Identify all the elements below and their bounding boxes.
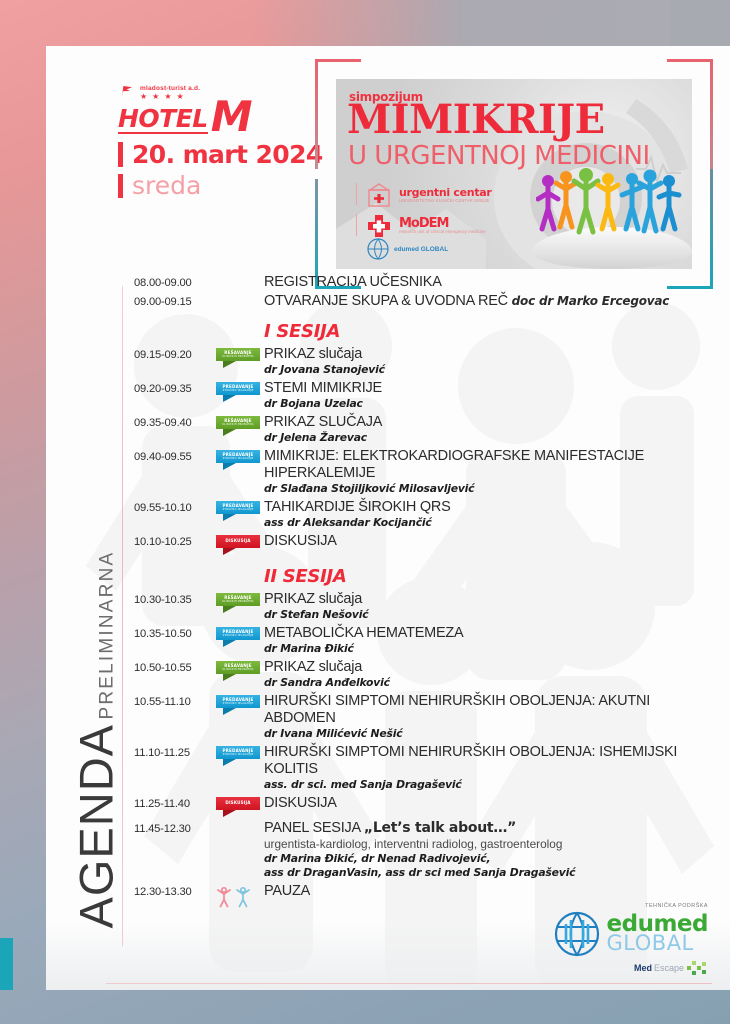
person-pink-icon <box>216 886 232 908</box>
ribbon-tail <box>223 429 236 436</box>
schedule-row: 08.00-09.00REGISTRACIJA UČESNIKA <box>134 274 716 291</box>
ribbon-green: REŠAVANJEKLINIČKIH PROBLEMA <box>216 661 260 681</box>
item-title: STEMI MIMIKRIJE <box>264 380 716 397</box>
item-title: HIRURŠKI SIMPTOMI NEHIRURŠKIH OBOLJENJA:… <box>264 693 716 727</box>
date-accent-bar <box>118 142 123 167</box>
hotel-logo: mladost-turist a.d. ★★★★ HOTEL M <box>118 84 298 134</box>
schedule-row: 11.25-11.40DISKUSIJADISKUSIJA <box>134 795 716 817</box>
medescape-escape: Escape <box>654 963 684 973</box>
item-speaker: dr Stefan Nešović <box>264 608 716 622</box>
ribbon-tail <box>223 708 236 715</box>
session-badge-spacer <box>216 321 264 323</box>
promo-edumed-text: edumed GLOBAL <box>394 246 448 253</box>
item-speaker: dr Ivana Milićević Nešić <box>264 727 716 741</box>
item-time: 10.55-11.10 <box>134 693 216 710</box>
schedule-row: 09.20-09.35PREDAVANJESTRUČNO IZLAGANJEST… <box>134 380 716 411</box>
schedule-row: 09.00-09.15OTVARANJE SKUPA & UVODNA REČ … <box>134 293 716 310</box>
item-time: 09.00-09.15 <box>134 293 216 310</box>
ribbon-sublabel: STRUČNO IZLAGANJE <box>223 703 254 706</box>
item-time: 10.50-10.55 <box>134 659 216 676</box>
hotel-m-letter: M <box>211 100 251 134</box>
item-title: PAUZA <box>264 883 716 900</box>
ribbon-green: REŠAVANJEKLINIČKIH PROBLEMA <box>216 348 260 368</box>
hospital-building-icon <box>366 182 392 208</box>
promo-subtitle: U URGENTNOJ MEDICINI <box>348 143 650 169</box>
ribbon-blue: PREDAVANJESTRUČNO IZLAGANJE <box>216 746 260 766</box>
ribbon-sublabel: KLINIČKIH PROBLEMA <box>222 601 254 604</box>
hotel-brand-text: mladost-turist a.d. <box>140 85 320 92</box>
medical-cross-icon <box>366 213 392 239</box>
promo-org-urgentni-centar: urgentni centar UNIVERZITETSKI KLINIČKI … <box>366 182 492 208</box>
badge-green: REŠAVANJEKLINIČKIH PROBLEMA <box>216 414 264 436</box>
schedule-row: 11.45-12.30PANEL SESIJA „Let’s talk abou… <box>134 820 716 880</box>
badge-empty <box>216 293 264 295</box>
item-description: urgentista-kardiolog, interventni radiol… <box>264 837 716 852</box>
item-title-text: PANEL SESIJA <box>264 820 360 836</box>
footer-rule <box>106 983 712 984</box>
badge-blue: PREDAVANJESTRUČNO IZLAGANJE <box>216 380 264 402</box>
item-time: 09.55-10.10 <box>134 499 216 516</box>
item-speaker: dr Marina Đikić, dr Nenad Radivojević, <box>264 852 716 866</box>
footer-sponsor-logo: TEHNIČKA PODRŠKA edumed GLOBAL Med Escap… <box>538 903 708 976</box>
item-time: 10.10-10.25 <box>134 533 216 550</box>
badge-pauza <box>216 883 264 908</box>
preliminary-word: PRELIMINARNA <box>97 551 118 720</box>
badge-empty <box>216 274 264 276</box>
item-content: OTVARANJE SKUPA & UVODNA REČ doc dr Mark… <box>264 293 716 310</box>
event-weekday: sreda <box>132 172 201 200</box>
agenda-word: AGENDA <box>70 724 123 929</box>
ribbon-label: DISKUSIJA <box>225 801 250 806</box>
ribbon-tail <box>223 606 236 613</box>
event-date: 20. mart 2024 <box>132 142 323 167</box>
schedule-row: 10.35-10.50PREDAVANJESTRUČNO IZLAGANJEME… <box>134 625 716 656</box>
schedule-row: 10.30-10.35REŠAVANJEKLINIČKIH PROBLEMAPR… <box>134 591 716 622</box>
item-content: DISKUSIJA <box>264 533 716 550</box>
item-time: 09.40-09.55 <box>134 448 216 465</box>
item-title: HIRURŠKI SIMPTOMI NEHIRURŠKIH OBOLJENJA:… <box>264 744 716 778</box>
person-blue-icon <box>235 886 251 908</box>
ribbon-tail <box>223 395 236 402</box>
teal-edge-tab <box>0 938 13 990</box>
item-content: HIRURŠKI SIMPTOMI NEHIRURŠKIH OBOLJENJA:… <box>264 744 716 792</box>
session-title: I SESIJA <box>264 321 716 342</box>
badge-blue: PREDAVANJESTRUČNO IZLAGANJE <box>216 744 264 766</box>
ribbon-red: DISKUSIJA <box>216 797 260 817</box>
session-heading-row: I SESIJA <box>134 321 716 342</box>
medescape-med: Med <box>634 963 652 973</box>
poster-root: mladost-turist a.d. ★★★★ HOTEL M 20. mar… <box>0 0 730 1024</box>
date-block: 20. mart 2024 sreda <box>118 142 323 200</box>
frame-edge-left-bottom <box>315 179 318 289</box>
item-content: METABOLIČKA HEMATEMEZAdr Marina Đikić <box>264 625 716 656</box>
item-speaker: dr Marina Đikić <box>264 642 716 656</box>
item-content: PRIKAZ SLUČAJAdr Jelena Žarevac <box>264 414 716 445</box>
frame-edge-right-top <box>710 59 713 179</box>
item-title: PRIKAZ slučaja <box>264 346 716 363</box>
badge-blue: PREDAVANJESTRUČNO IZLAGANJE <box>216 693 264 715</box>
item-time: 09.20-09.35 <box>134 380 216 397</box>
session-time-spacer <box>134 321 216 322</box>
ribbon-sublabel: KLINIČKIH PROBLEMA <box>222 669 254 672</box>
schedule-row: 09.15-09.20REŠAVANJEKLINIČKIH PROBLEMAPR… <box>134 346 716 377</box>
item-content: DISKUSIJA <box>264 795 716 812</box>
item-content: MIMIKRIJE: ELEKTROKARDIOGRAFSKE MANIFEST… <box>264 448 716 496</box>
ribbon-tail <box>223 514 236 521</box>
promo-org2-desc: research unit of clinical emergency medi… <box>399 229 486 234</box>
item-title: DISKUSIJA <box>264 795 716 812</box>
item-time: 08.00-09.00 <box>134 274 216 291</box>
item-content: REGISTRACIJA UČESNIKA <box>264 274 716 291</box>
schedule-row: 11.10-11.25PREDAVANJESTRUČNO IZLAGANJEHI… <box>134 744 716 792</box>
item-title: MIMIKRIJE: ELEKTROKARDIOGRAFSKE MANIFEST… <box>264 448 716 482</box>
ribbon-sublabel: STRUČNO IZLAGANJE <box>223 458 254 461</box>
ribbon-tail <box>223 463 236 470</box>
badge-blue: PREDAVANJESTRUČNO IZLAGANJE <box>216 625 264 647</box>
ribbon-sublabel: STRUČNO IZLAGANJE <box>223 509 254 512</box>
schedule-row: 10.55-11.10PREDAVANJESTRUČNO IZLAGANJEHI… <box>134 693 716 741</box>
ribbon-sublabel: STRUČNO IZLAGANJE <box>223 635 254 638</box>
schedule-row: 10.10-10.25DISKUSIJADISKUSIJA <box>134 533 716 555</box>
item-speaker: dr Sandra Anđelković <box>264 676 716 690</box>
medescape-logo: Med Escape <box>538 960 708 976</box>
flag-icon <box>120 85 134 97</box>
item-speaker-2: ass dr DraganVasin, ass dr sci med Sanja… <box>264 866 716 880</box>
item-title: PRIKAZ SLUČAJA <box>264 414 716 431</box>
item-content: PRIKAZ slučajadr Jovana Stanojević <box>264 346 716 377</box>
frame-edge-left-top <box>315 59 318 169</box>
ribbon-blue: PREDAVANJESTRUČNO IZLAGANJE <box>216 450 260 470</box>
promo-title: MIMIKRIJE <box>347 100 605 140</box>
ribbon-green: REŠAVANJEKLINIČKIH PROBLEMA <box>216 416 260 436</box>
schedule-list: 08.00-09.00REGISTRACIJA UČESNIKA09.00-09… <box>134 274 716 911</box>
ribbon-tail <box>223 640 236 647</box>
promo-org2-name: MoDEM <box>399 218 486 230</box>
border-grey-top <box>250 0 730 46</box>
medescape-dots-icon <box>686 960 708 976</box>
ribbon-tail <box>223 361 236 368</box>
item-time: 09.15-09.20 <box>134 346 216 363</box>
item-title: REGISTRACIJA UČESNIKA <box>264 274 716 291</box>
item-title: METABOLIČKA HEMATEMEZA <box>264 625 716 642</box>
agenda-vertical-label: AGENDA PRELIMINARNA <box>66 356 122 926</box>
item-speaker: dr Slađana Stojiljković Milosavljević <box>264 482 716 496</box>
ribbon-tail <box>223 810 236 817</box>
item-content: STEMI MIMIKRIJEdr Bojana Uzelac <box>264 380 716 411</box>
item-title-quote: „Let’s talk about…” <box>364 820 516 836</box>
frame-edge-right-bottom <box>710 169 713 289</box>
badge-empty <box>216 820 264 822</box>
badge-green: REŠAVANJEKLINIČKIH PROBLEMA <box>216 659 264 681</box>
ribbon-blue: PREDAVANJESTRUČNO IZLAGANJE <box>216 695 260 715</box>
item-time: 11.45-12.30 <box>134 820 216 837</box>
promo-org1-desc: UNIVERZITETSKI KLINIČKI CENTAR SRBIJE <box>399 198 492 203</box>
edumed-globe-large-icon <box>552 910 602 958</box>
page-white: mladost-turist a.d. ★★★★ HOTEL M 20. mar… <box>46 46 730 990</box>
session-badge-spacer <box>216 566 264 568</box>
promo-image: simpozijum MIMIKRIJE U URGENTNOJ MEDICIN… <box>336 79 692 269</box>
badge-blue: PREDAVANJESTRUČNO IZLAGANJE <box>216 448 264 470</box>
ribbon-tail <box>223 759 236 766</box>
item-speaker: ass. dr sci. med Sanja Dragašević <box>264 778 716 792</box>
session-time-spacer <box>134 566 216 567</box>
item-title-text: OTVARANJE SKUPA & UVODNA REČ <box>264 293 508 309</box>
item-speaker: dr Jovana Stanojević <box>264 363 716 377</box>
promo-org1-name: urgentni centar <box>399 187 492 199</box>
colorful-people-figures <box>536 167 686 253</box>
item-title: PANEL SESIJA „Let’s talk about…” <box>264 820 716 837</box>
item-time: 10.35-10.50 <box>134 625 216 642</box>
weekday-accent-bar <box>118 174 123 198</box>
badge-red: DISKUSIJA <box>216 533 264 555</box>
item-time: 11.10-11.25 <box>134 744 216 761</box>
item-content: TAHIKARDIJE ŠIROKIH QRSass dr Aleksandar… <box>264 499 716 530</box>
promo-divider-1 <box>356 183 357 205</box>
item-time: 10.30-10.35 <box>134 591 216 608</box>
ribbon-blue: PREDAVANJESTRUČNO IZLAGANJE <box>216 382 260 402</box>
item-speaker: dr Bojana Uzelac <box>264 397 716 411</box>
item-time: 11.25-11.40 <box>134 795 216 812</box>
item-title: OTVARANJE SKUPA & UVODNA REČ doc dr Mark… <box>264 293 716 310</box>
schedule-row: 09.40-09.55PREDAVANJESTRUČNO IZLAGANJEMI… <box>134 448 716 496</box>
badge-green: REŠAVANJEKLINIČKIH PROBLEMA <box>216 591 264 613</box>
ribbon-sublabel: KLINIČKIH PROBLEMA <box>222 424 254 427</box>
badge-green: REŠAVANJEKLINIČKIH PROBLEMA <box>216 346 264 368</box>
item-title: DISKUSIJA <box>264 533 716 550</box>
item-title: PRIKAZ slučaja <box>264 659 716 676</box>
ribbon-blue: PREDAVANJESTRUČNO IZLAGANJE <box>216 501 260 521</box>
ribbon-tail <box>223 548 236 555</box>
item-speaker: ass dr Aleksandar Kocijančić <box>264 516 716 530</box>
tech-support-label: TEHNIČKA PODRŠKA <box>538 903 708 909</box>
item-content: PAUZA <box>264 883 716 900</box>
ribbon-tail <box>223 674 236 681</box>
item-title-emphasis: doc dr Marko Ercegovac <box>512 294 670 308</box>
item-content: PRIKAZ slučajadr Stefan Nešović <box>264 591 716 622</box>
promo-org-modem: MoDEM research unit of clinical emergenc… <box>366 213 486 239</box>
ribbon-red: DISKUSIJA <box>216 535 260 555</box>
ribbon-sublabel: STRUČNO IZLAGANJE <box>223 390 254 393</box>
promo-frame: simpozijum MIMIKRIJE U URGENTNOJ MEDICIN… <box>315 59 713 289</box>
item-time: 12.30-13.30 <box>134 883 216 900</box>
hotel-stars: ★★★★ <box>140 92 320 101</box>
item-speaker: dr Jelena Žarevac <box>264 431 716 445</box>
promo-edumed-logo: edumed GLOBAL <box>366 238 448 260</box>
global-wordmark: GLOBAL <box>607 934 708 953</box>
schedule-row: 09.35-09.40REŠAVANJEKLINIČKIH PROBLEMAPR… <box>134 414 716 445</box>
ribbon-blue: PREDAVANJESTRUČNO IZLAGANJE <box>216 627 260 647</box>
item-time: 09.35-09.40 <box>134 414 216 431</box>
ribbon-sublabel: KLINIČKIH PROBLEMA <box>222 356 254 359</box>
promo-divider-2 <box>356 214 357 236</box>
ribbon-label: DISKUSIJA <box>225 539 250 544</box>
item-content: PRIKAZ slučajadr Sandra Anđelković <box>264 659 716 690</box>
item-title: TAHIKARDIJE ŠIROKIH QRS <box>264 499 716 516</box>
hotel-word: HOTEL <box>118 106 208 134</box>
item-content: HIRURŠKI SIMPTOMI NEHIRURŠKIH OBOLJENJA:… <box>264 693 716 741</box>
item-title: PRIKAZ slučaja <box>264 591 716 608</box>
session-title: II SESIJA <box>264 566 716 587</box>
session-heading-row: II SESIJA <box>134 566 716 587</box>
badge-blue: PREDAVANJESTRUČNO IZLAGANJE <box>216 499 264 521</box>
agenda-vertical-rule <box>122 286 123 946</box>
item-content: PANEL SESIJA „Let’s talk about…”urgentis… <box>264 820 716 880</box>
edumed-globe-icon <box>366 238 390 260</box>
schedule-row: 09.55-10.10PREDAVANJESTRUČNO IZLAGANJETA… <box>134 499 716 530</box>
schedule-row: 10.50-10.55REŠAVANJEKLINIČKIH PROBLEMAPR… <box>134 659 716 690</box>
badge-red: DISKUSIJA <box>216 795 264 817</box>
ribbon-green: REŠAVANJEKLINIČKIH PROBLEMA <box>216 593 260 613</box>
ribbon-sublabel: STRUČNO IZLAGANJE <box>223 754 254 757</box>
